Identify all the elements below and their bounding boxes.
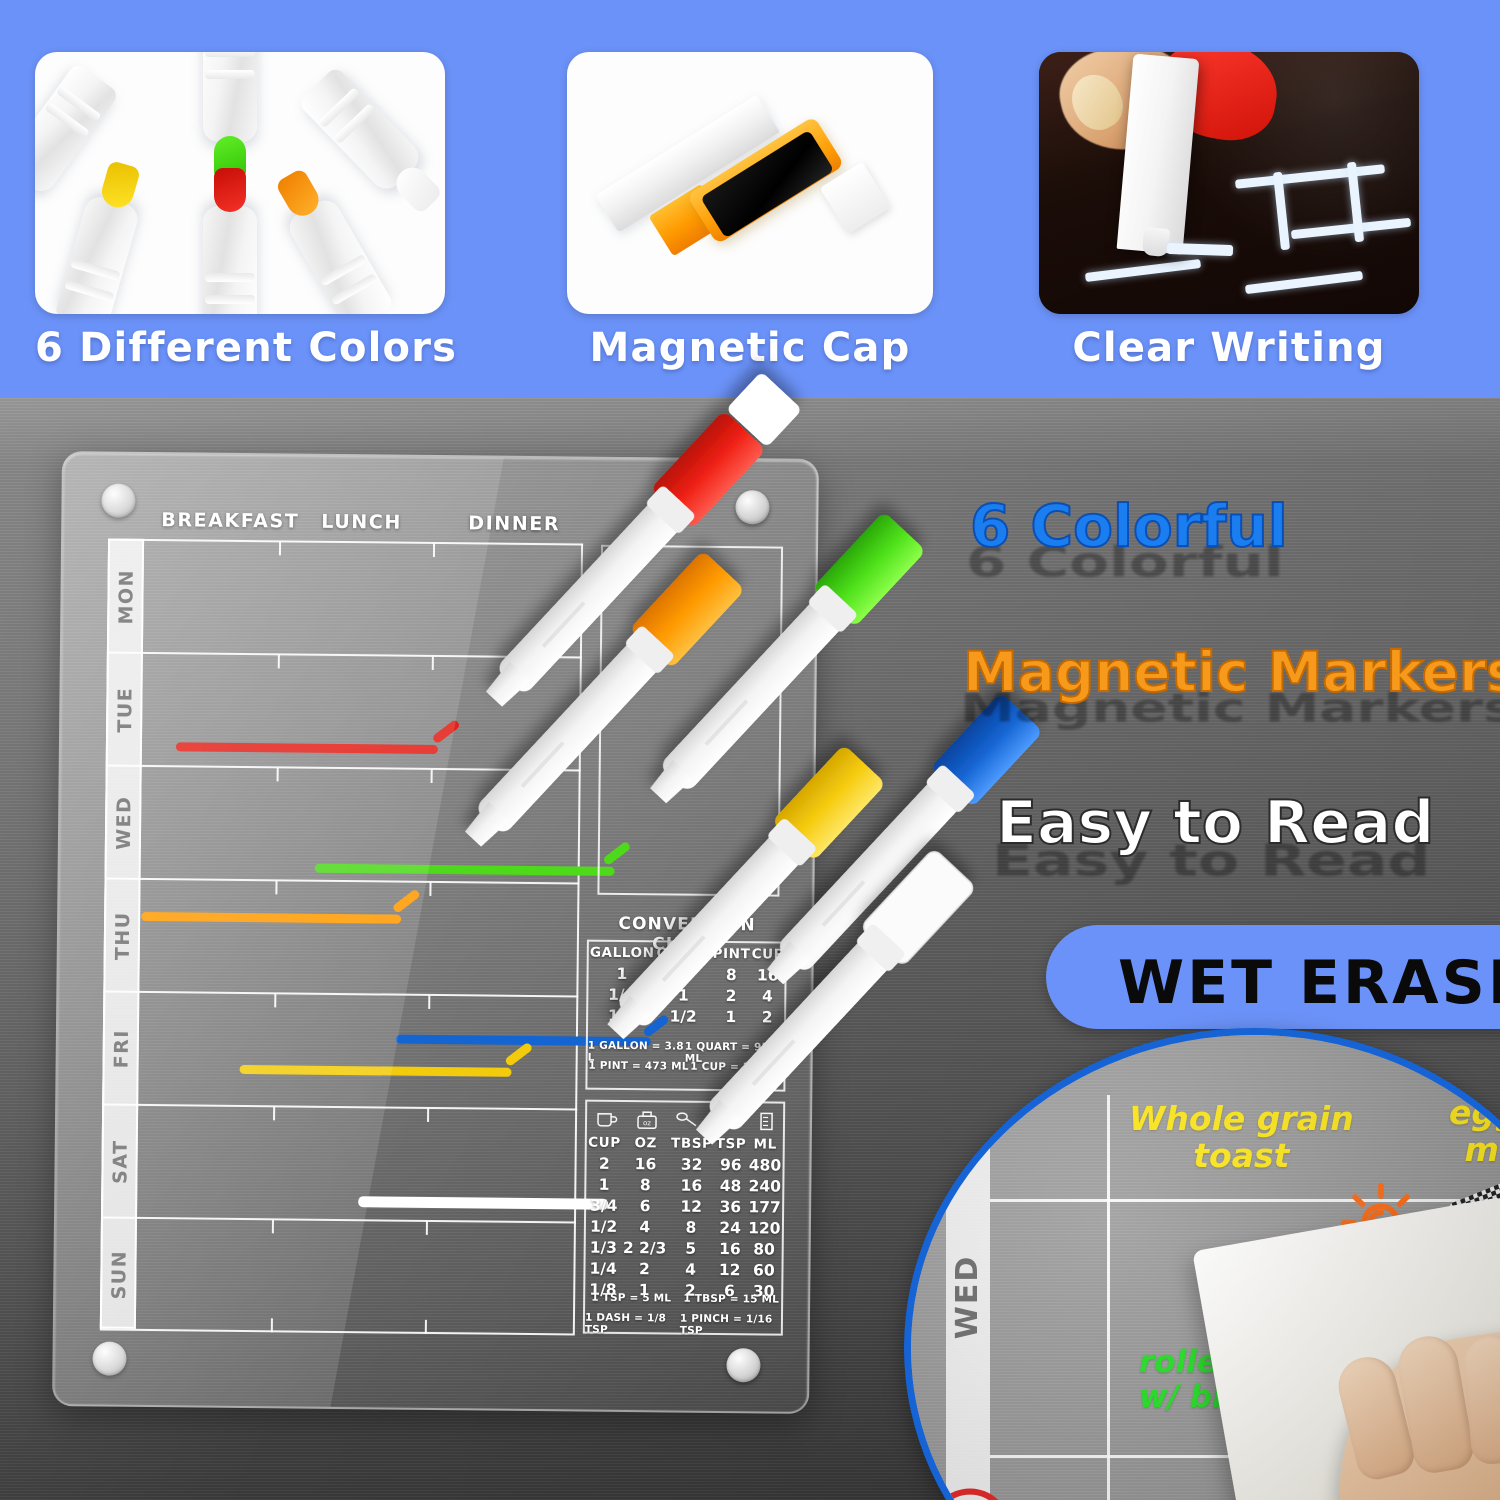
day-column: MON TUE WED THU FRI SAT SUN — [100, 539, 144, 1329]
notes-box — [597, 545, 783, 897]
table-row: 1/8 1/2 1 2 — [588, 1005, 784, 1028]
note-pinch: 1 PINCH = 1/16 TSP — [680, 1313, 785, 1338]
headline-easy-to-read: Easy to Read — [996, 788, 1434, 858]
col-cup: CUP — [751, 943, 785, 964]
col-ml: ML — [748, 1133, 783, 1154]
measure-glyph-row: oz — [587, 1104, 787, 1134]
marker-tip-orange — [285, 197, 407, 314]
magnet-screw-bottom-right — [726, 1348, 760, 1382]
table-row: 3/4 6 12 36 177 — [586, 1195, 782, 1218]
conversion-table-measure: oz CUP OZ TBSP — [583, 1100, 785, 1336]
marker-tip-red — [203, 208, 257, 314]
headline-magnetic-markers: Magnetic Markers — [963, 640, 1500, 704]
col-quart: QUART — [656, 942, 713, 964]
day-label-tue: TUE — [107, 654, 144, 766]
col-tbsp: TBSP — [669, 1132, 714, 1153]
note-dash: 1 DASH = 1/8 TSP — [585, 1312, 680, 1337]
note-cup: 1 CUP = 237 ML — [690, 1061, 787, 1074]
magnet-screw-top-left — [101, 483, 135, 517]
table-row: 2 16 32 96 480 — [586, 1153, 782, 1176]
smiley-doodle-icon — [918, 1477, 1022, 1500]
handwriting-egg-and-milk: egg & milk — [1449, 1095, 1500, 1169]
day-label-sat: SAT — [102, 1106, 139, 1218]
note-tsp: 1 TSP = 5 ML — [591, 1292, 671, 1305]
wet-erase-label: WET ERASE — [1118, 948, 1500, 1018]
table-row: 1 4 8 16 — [588, 963, 784, 986]
table-row: 1 8 16 48 240 — [586, 1174, 782, 1197]
headline-6-colorful: 6 Colorful — [970, 492, 1288, 560]
col-pint: PINT — [712, 943, 751, 964]
note-pint: 1 PINT = 473 ML — [588, 1060, 688, 1073]
col-cup2: CUP — [587, 1132, 623, 1153]
feature-magnetic-cap: Magnetic Cap — [567, 0, 933, 398]
svg-text:oz: oz — [643, 1119, 651, 1127]
handwriting-whole-grain-toast: Whole grain toast — [1129, 1101, 1354, 1175]
inset-day-wed: WED — [946, 1241, 990, 1353]
conversion-table-volume: GALLON QUART PINT CUP 1 4 8 16 1/4 1 2 4 — [585, 940, 787, 1092]
day-label-fri: FRI — [103, 993, 140, 1105]
marker-tip-green — [203, 52, 257, 140]
marker-tips-image — [35, 52, 445, 314]
wet-erase-demo-inset: WED THU Whole grain toast egg & milk rol… — [904, 1028, 1500, 1500]
feature-label-colors: 6 Different Colors — [35, 325, 445, 371]
meal-header-dinner: DINNER — [468, 512, 560, 535]
marker-nib — [1142, 227, 1170, 257]
magnetic-cap-image — [567, 52, 933, 314]
measuring-jug-icon — [754, 1109, 780, 1133]
conversion-chart: CONVERSION CHART GALLON QUART PINT CUP 1… — [583, 914, 787, 1336]
table-row: 1/4 1 2 4 — [588, 984, 784, 1007]
feature-clear-writing: Clear Writing — [1039, 0, 1419, 398]
col-oz: OZ — [622, 1132, 669, 1153]
day-label-sun: SUN — [101, 1219, 138, 1331]
feature-label-writing: Clear Writing — [1039, 325, 1419, 371]
table-row: 1/3 2 2/3 5 16 80 — [586, 1237, 782, 1260]
table-row: 1/2 4 8 24 120 — [586, 1216, 782, 1239]
col-tsp: TSP — [714, 1133, 747, 1154]
day-label-thu: THU — [104, 880, 141, 992]
magnet-screw-bottom-left — [92, 1341, 126, 1375]
feature-label-magnetic: Magnetic Cap — [567, 325, 933, 371]
meal-header-breakfast: BREAKFAST — [161, 509, 299, 532]
note-tbsp: 1 TBSP = 15 ML — [683, 1293, 779, 1306]
clear-writing-image — [1039, 52, 1419, 314]
col-gallon: GALLON — [589, 942, 656, 964]
feature-6-different-colors: 6 Different Colors — [35, 0, 445, 398]
day-label-mon: MON — [108, 541, 145, 653]
tablespoon-icon — [674, 1109, 700, 1133]
feature-banner: 6 Different Colors Magnetic Cap — [0, 0, 1500, 398]
inset-day-column: WED THU — [946, 1095, 990, 1500]
marker-tip-yellow — [47, 195, 140, 314]
acrylic-meal-planner-board: BREAKFAST LUNCH DINNER MON TUE WED THU F… — [52, 451, 819, 1414]
meal-header-lunch: LUNCH — [321, 511, 402, 534]
day-label-wed: WED — [106, 767, 143, 879]
teaspoon-icon — [714, 1109, 740, 1133]
kitchen-scale-icon: oz — [634, 1108, 660, 1132]
table-row: 1/4 2 4 12 60 — [585, 1258, 781, 1281]
magnet-screw-top-right — [735, 490, 769, 524]
measuring-cup-icon — [594, 1108, 620, 1132]
